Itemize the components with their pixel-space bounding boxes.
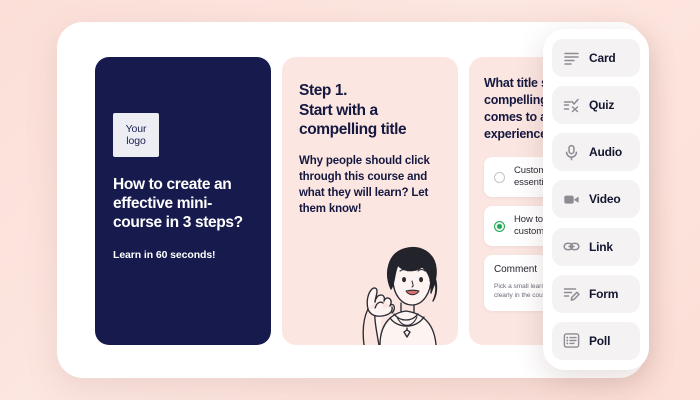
microphone-icon — [563, 144, 580, 161]
menu-item-video[interactable]: Video — [552, 180, 640, 218]
menu-item-audio[interactable]: Audio — [552, 133, 640, 171]
menu-item-poll-label: Poll — [589, 334, 610, 348]
logo-placeholder: Your logo — [113, 113, 159, 157]
menu-item-quiz-label: Quiz — [589, 98, 614, 112]
checklist-cross-icon — [563, 97, 580, 114]
menu-item-form[interactable]: Form — [552, 275, 640, 313]
menu-item-link-label: Link — [589, 240, 613, 254]
chain-link-icon — [563, 238, 580, 255]
menu-item-link[interactable]: Link — [552, 228, 640, 266]
logo-line-1: Your — [126, 123, 147, 135]
screenshot-stage: Your logo How to create an effective min… — [0, 0, 700, 400]
cover-title: How to create an effective mini-course i… — [113, 175, 253, 232]
logo-line-2: logo — [126, 135, 145, 147]
step-title-line-3: compelling title — [299, 121, 406, 138]
menu-item-quiz[interactable]: Quiz — [552, 86, 640, 124]
menu-item-video-label: Video — [589, 192, 620, 206]
menu-item-audio-label: Audio — [589, 145, 622, 159]
menu-item-form-label: Form — [589, 287, 618, 301]
video-camera-icon — [563, 191, 580, 208]
menu-item-card[interactable]: Card — [552, 39, 640, 77]
menu-item-poll[interactable]: Poll — [552, 322, 640, 360]
radio-unselected-icon[interactable] — [494, 172, 505, 183]
step-title-line-1: Step 1. — [299, 82, 347, 99]
card-cover[interactable]: Your logo How to create an effective min… — [95, 57, 271, 345]
step-title-line-2: Start with a — [299, 102, 378, 119]
cover-subtitle: Learn in 60 seconds! — [113, 248, 253, 262]
card-step[interactable]: Step 1. Start with a compelling title Wh… — [282, 57, 458, 345]
step-body: Why people should click through this cou… — [299, 153, 441, 217]
radio-selected-icon[interactable] — [494, 221, 505, 232]
menu-item-card-label: Card — [589, 51, 616, 65]
form-pencil-icon — [563, 285, 580, 302]
step-title: Step 1. Start with a compelling title — [299, 81, 441, 140]
poll-list-icon — [563, 332, 580, 349]
woman-pointing-up-illustration — [334, 217, 458, 345]
insert-block-menu[interactable]: Card Quiz Audio — [543, 29, 649, 370]
list-lines-icon — [563, 50, 580, 67]
